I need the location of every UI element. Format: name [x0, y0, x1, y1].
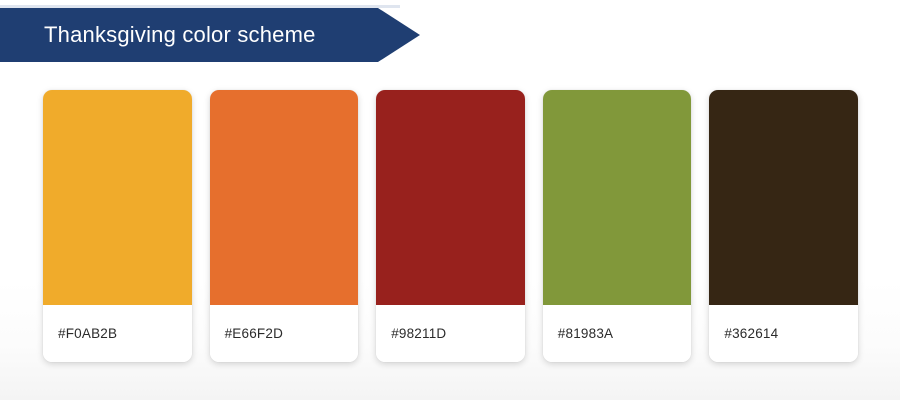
swatch-hex-label: #81983A — [543, 327, 613, 341]
swatch-color-block — [543, 90, 692, 305]
swatch-color-block — [709, 90, 858, 305]
color-swatch-card[interactable]: #362614 — [709, 90, 858, 362]
page-title: Thanksgiving color scheme — [0, 24, 316, 46]
color-swatch-card[interactable]: #F0AB2B — [43, 90, 192, 362]
swatch-footer: #E66F2D — [210, 305, 359, 362]
swatch-footer: #F0AB2B — [43, 305, 192, 362]
color-swatch-card[interactable]: #81983A — [543, 90, 692, 362]
swatch-hex-label: #362614 — [709, 327, 778, 341]
swatch-footer: #98211D — [376, 305, 525, 362]
swatch-footer: #81983A — [543, 305, 692, 362]
swatch-hex-label: #F0AB2B — [43, 327, 117, 341]
banner-top-hairline — [0, 5, 400, 8]
swatch-footer: #362614 — [709, 305, 858, 362]
swatch-hex-label: #E66F2D — [210, 327, 283, 341]
swatch-color-block — [376, 90, 525, 305]
header-banner: Thanksgiving color scheme — [0, 8, 420, 62]
color-swatch-list: #F0AB2B #E66F2D #98211D #81983A #362614 — [43, 90, 858, 362]
color-swatch-card[interactable]: #98211D — [376, 90, 525, 362]
swatch-color-block — [43, 90, 192, 305]
color-swatch-card[interactable]: #E66F2D — [210, 90, 359, 362]
banner-arrow-shape: Thanksgiving color scheme — [0, 8, 420, 62]
swatch-color-block — [210, 90, 359, 305]
swatch-hex-label: #98211D — [376, 327, 446, 341]
